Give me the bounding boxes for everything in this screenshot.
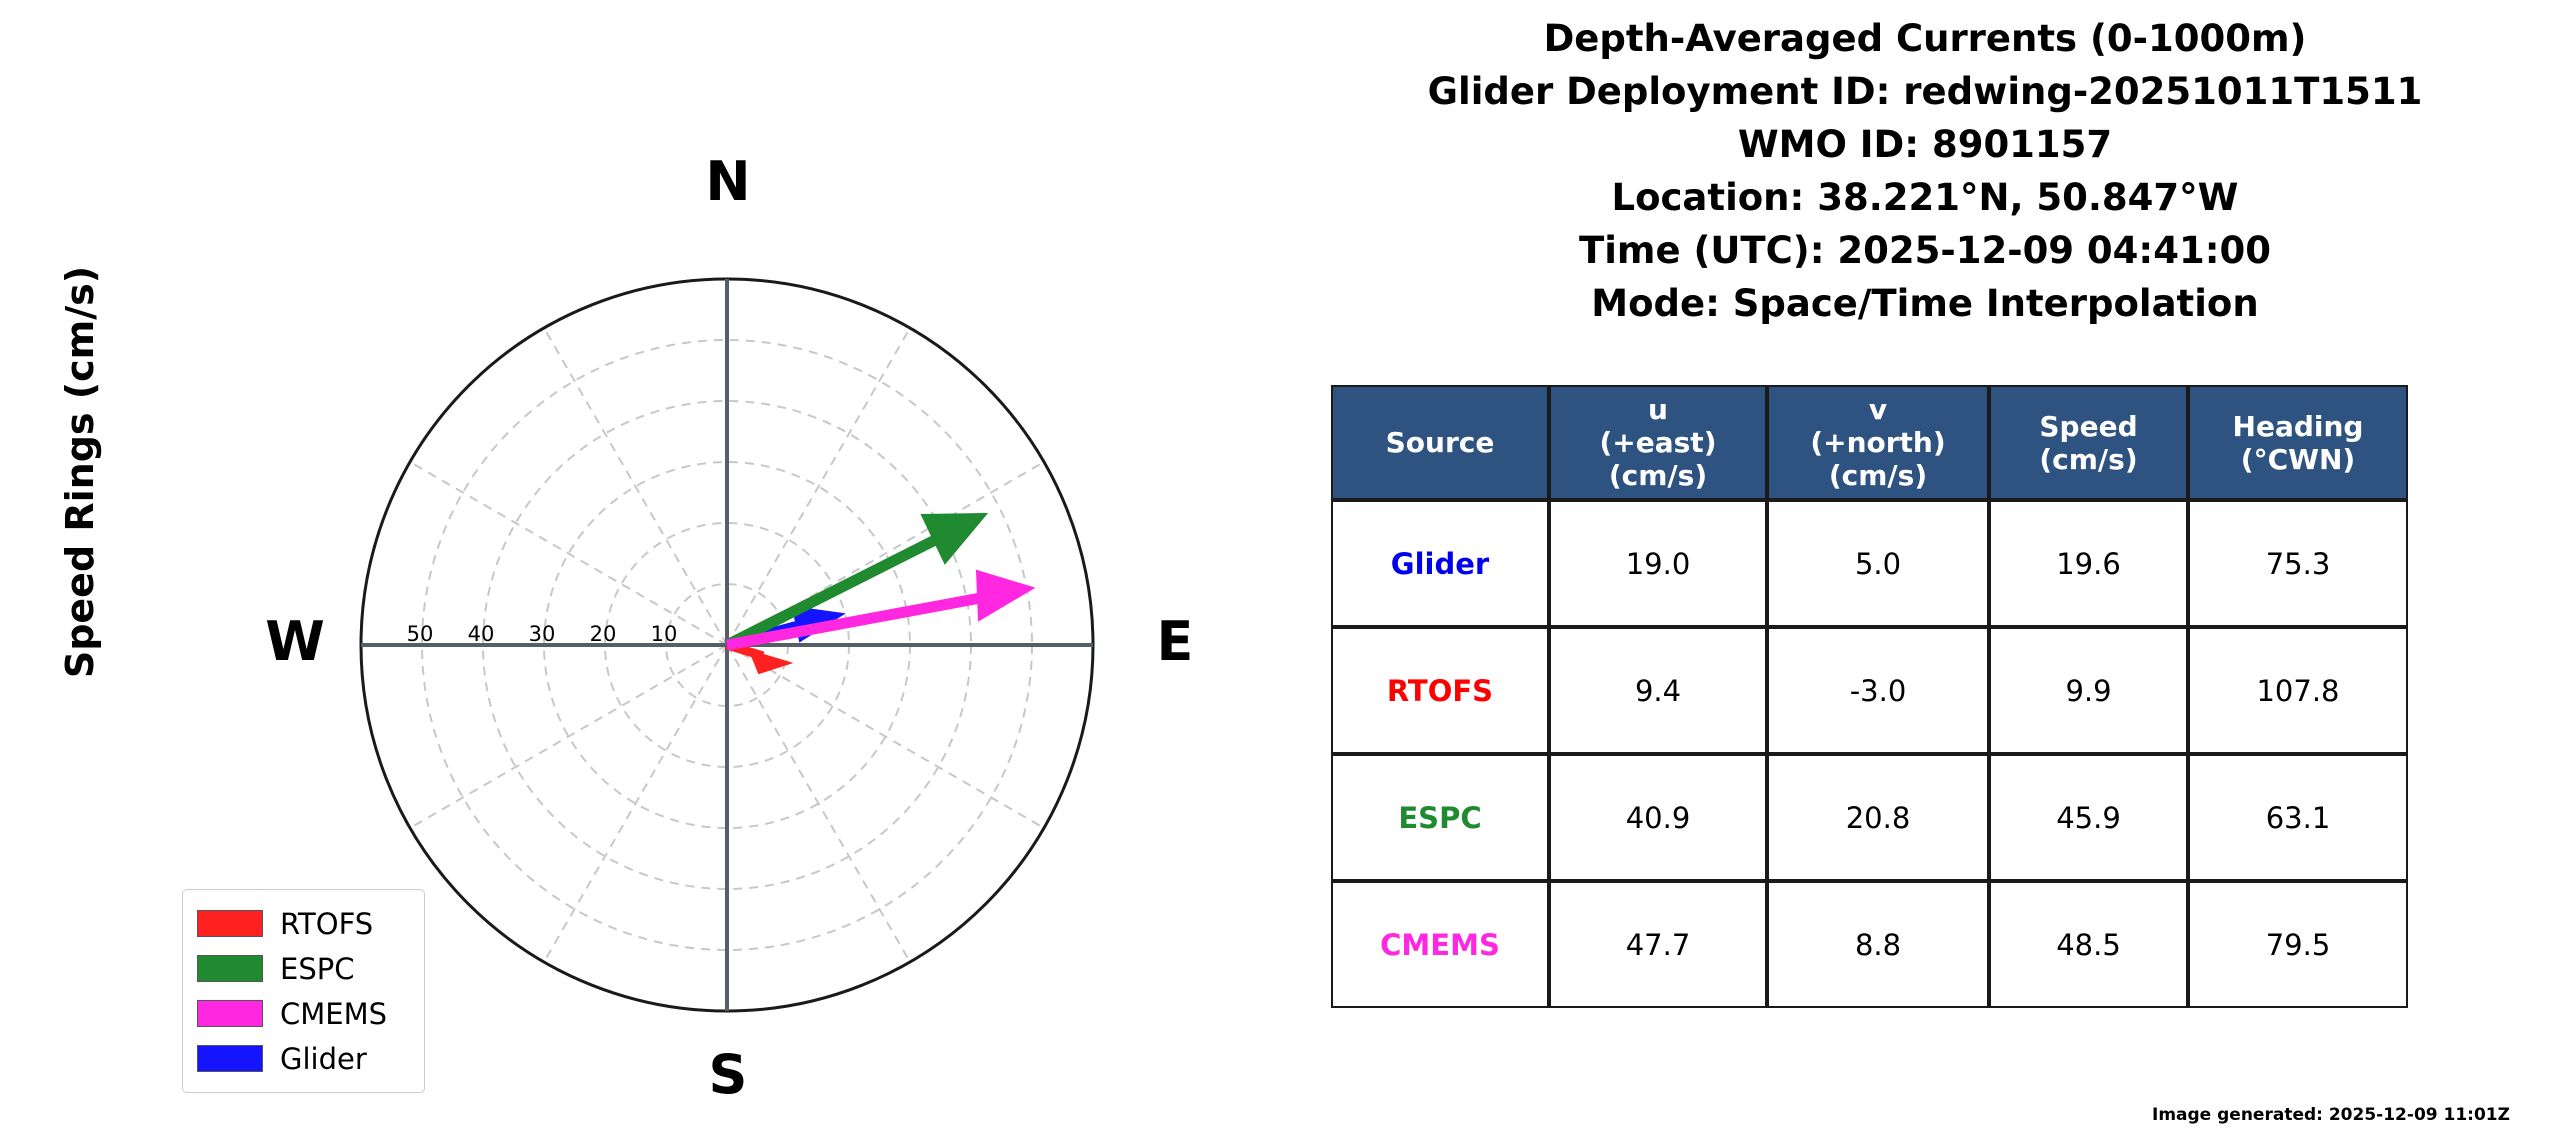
radial-tick-50: 50 [390,622,450,646]
cell-heading-cmems: 79.5 [2188,881,2408,1008]
column-header-source: Source [1331,385,1549,500]
column-header-u-line2: (+east) [1553,426,1763,459]
column-header-speed-line1: Speed [1993,410,2184,443]
cell-heading-glider: 75.3 [2188,500,2408,627]
wmo-id: WMO ID: 8901157 [1290,118,2560,171]
deployment-id: Glider Deployment ID: redwing-20251011T1… [1290,65,2560,118]
legend-label-rtofs: RTOFS [280,907,373,941]
cell-speed-cmems: 48.5 [1989,881,2188,1008]
cell-v-cmems: 8.8 [1767,881,1989,1008]
cell-v-rtofs: -3.0 [1767,627,1989,754]
legend-item-cmems[interactable]: CMEMS [197,991,412,1036]
currents-summary-table: Source u (+east) (cm/s) v (+north) (cm/s… [1331,385,2408,1008]
legend-label-espc: ESPC [280,952,354,986]
column-header-v: v (+north) (cm/s) [1767,385,1989,500]
radial-tick-30: 30 [512,622,572,646]
column-header-u-line3: (cm/s) [1553,459,1763,492]
table-row: RTOFS 9.4 -3.0 9.9 107.8 [1331,627,2408,754]
table-header-row: Source u (+east) (cm/s) v (+north) (cm/s… [1331,385,2408,500]
column-header-speed-line2: (cm/s) [1993,443,2184,476]
cell-u-glider: 19.0 [1549,500,1767,627]
compass-label-west: W [255,615,335,669]
column-header-heading: Heading (°CWN) [2188,385,2408,500]
cell-speed-rtofs: 9.9 [1989,627,2188,754]
cell-u-rtofs: 9.4 [1549,627,1767,754]
cell-speed-espc: 45.9 [1989,754,2188,881]
polar-plot-panel: N S W E Speed Rings (cm/s) 50 40 30 20 1… [0,0,1290,1138]
page-title: Depth-Averaged Currents (0-1000m) [1290,12,2560,65]
cell-u-cmems: 47.7 [1549,881,1767,1008]
cell-u-espc: 40.9 [1549,754,1767,881]
radial-tick-40: 40 [451,622,511,646]
table-row: CMEMS 47.7 8.8 48.5 79.5 [1331,881,2408,1008]
cell-heading-espc: 63.1 [2188,754,2408,881]
image-generated-note: Image generated: 2025-12-09 11:01Z [2152,1105,2510,1125]
time-utc: Time (UTC): 2025-12-09 04:41:00 [1290,224,2560,277]
column-header-v-line2: (+north) [1771,426,1985,459]
info-header: Depth-Averaged Currents (0-1000m) Glider… [1290,12,2560,330]
legend-swatch-rtofs [197,910,263,937]
plot-legend: RTOFS ESPC CMEMS Glider [182,889,425,1093]
column-header-speed: Speed (cm/s) [1989,385,2188,500]
cell-source-cmems: CMEMS [1331,881,1549,1008]
legend-item-espc[interactable]: ESPC [197,946,412,991]
legend-label-glider: Glider [280,1042,367,1076]
vector-cmems [727,571,1033,645]
mode: Mode: Space/Time Interpolation [1290,277,2560,330]
vector-rtofs [727,645,790,673]
radial-tick-20: 20 [573,622,633,646]
radial-tick-10: 10 [634,622,694,646]
column-header-source-line1: Source [1335,426,1545,459]
cell-source-glider: Glider [1331,500,1549,627]
cell-source-rtofs: RTOFS [1331,627,1549,754]
legend-item-glider[interactable]: Glider [197,1036,412,1081]
cell-heading-rtofs: 107.8 [2188,627,2408,754]
column-header-u-line1: u [1553,393,1763,426]
legend-label-cmems: CMEMS [280,997,387,1031]
compass-label-east: E [1135,615,1215,669]
legend-item-rtofs[interactable]: RTOFS [197,901,412,946]
legend-swatch-espc [197,955,263,982]
column-header-u: u (+east) (cm/s) [1549,385,1767,500]
legend-swatch-cmems [197,1000,263,1027]
location: Location: 38.221°N, 50.847°W [1290,171,2560,224]
column-header-v-line1: v [1771,393,1985,426]
column-header-heading-line2: (°CWN) [2192,443,2404,476]
table-row: Glider 19.0 5.0 19.6 75.3 [1331,500,2408,627]
compass-label-south: S [663,1048,793,1102]
column-header-v-line3: (cm/s) [1771,459,1985,492]
table-row: ESPC 40.9 20.8 45.9 63.1 [1331,754,2408,881]
column-header-heading-line1: Heading [2192,410,2404,443]
radial-axis-label: Speed Rings (cm/s) [58,212,102,732]
compass-label-north: N [663,155,793,209]
cell-v-espc: 20.8 [1767,754,1989,881]
legend-swatch-glider [197,1045,263,1072]
cell-source-espc: ESPC [1331,754,1549,881]
cell-speed-glider: 19.6 [1989,500,2188,627]
cell-v-glider: 5.0 [1767,500,1989,627]
